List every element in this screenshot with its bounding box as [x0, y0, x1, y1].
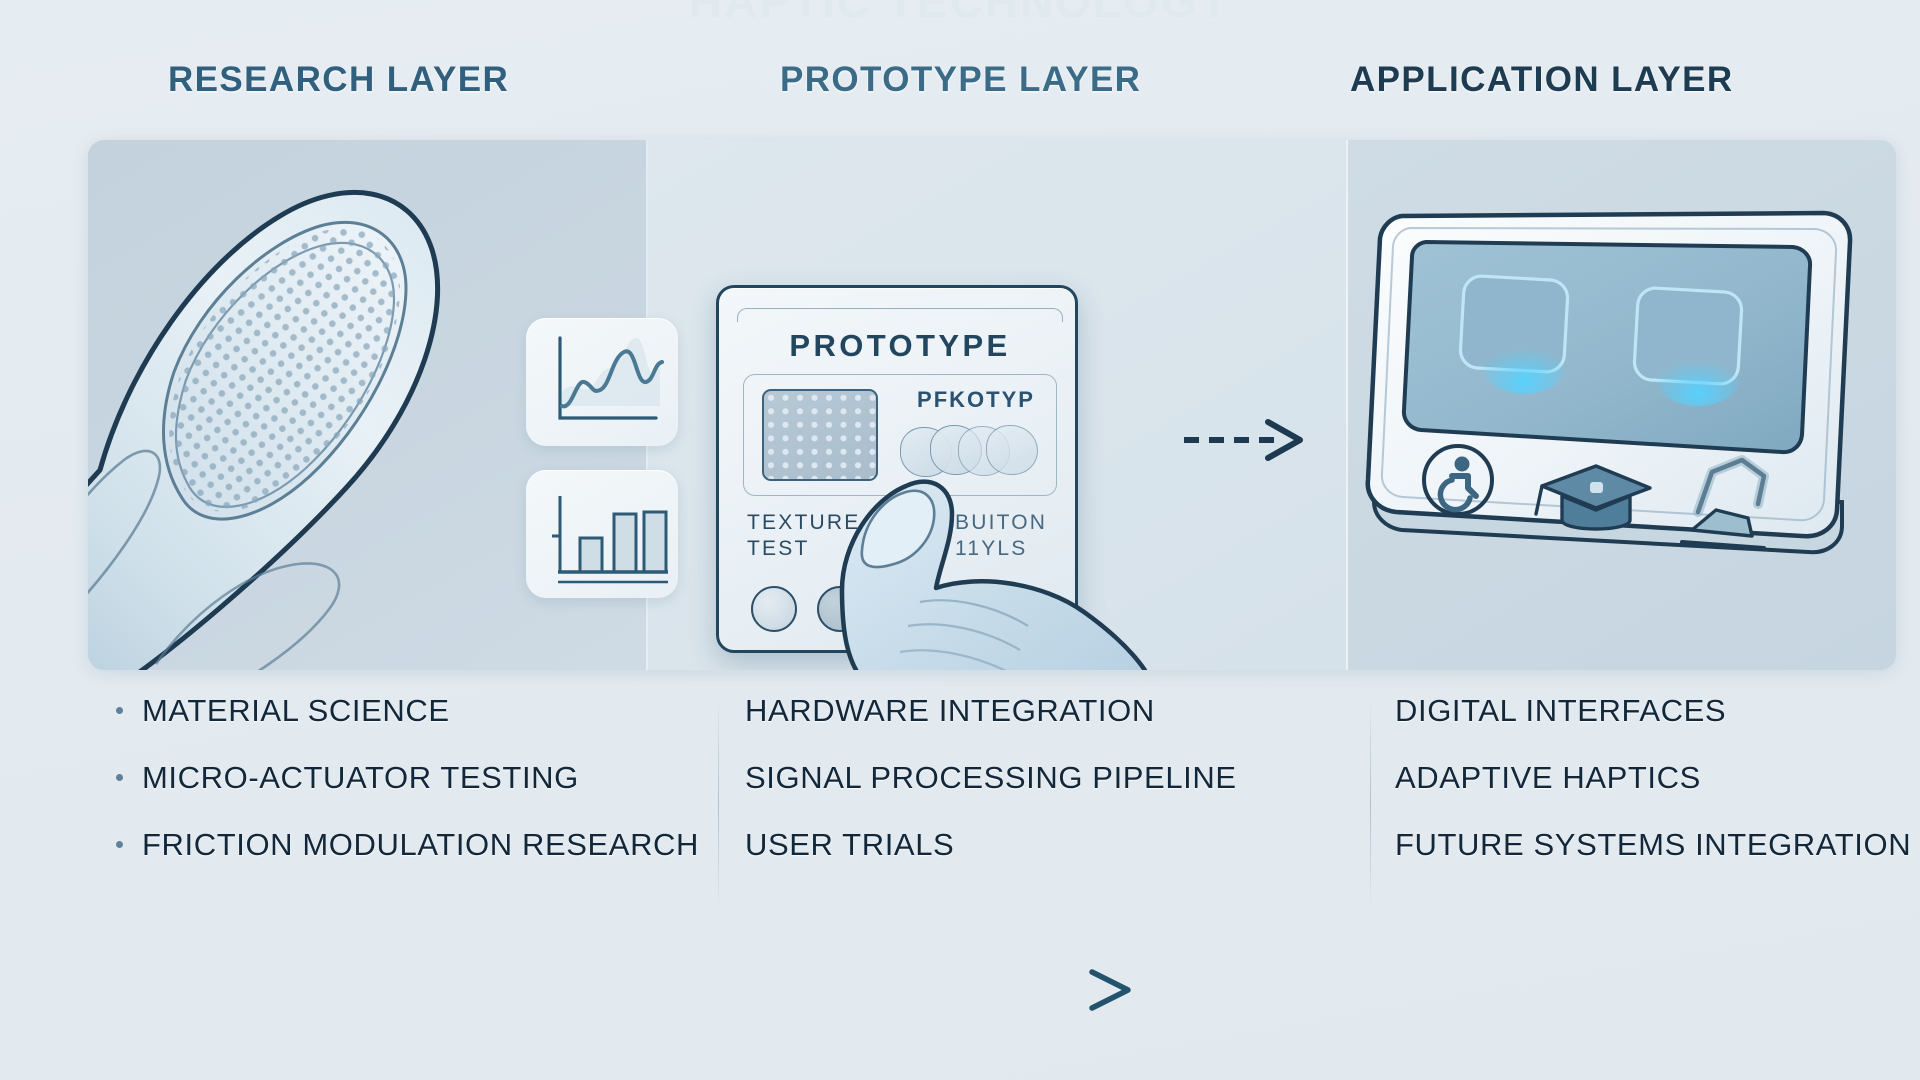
prototype-device-subtitle: PFKOTYP [906, 387, 1046, 413]
line-chart-card [526, 318, 678, 446]
list-item: ADAPTIVE HAPTICS [1395, 757, 1915, 798]
list-item: FUTURE SYSTEMS INTEGRATION [1395, 824, 1915, 865]
actuator-array [762, 389, 878, 481]
list-item: DIGITAL INTERFACES [1395, 690, 1915, 731]
list-item: SIGNAL PROCESSING PIPELINE [745, 757, 1345, 798]
fingertip-illustration [88, 140, 528, 670]
tablet-display[interactable] [1346, 180, 1866, 570]
header-research-layer: RESEARCH LAYER [168, 60, 509, 100]
layer-detail-columns: MATERIAL SCIENCE MICRO-ACTUATOR TESTING … [0, 690, 1920, 930]
bar-chart-card [526, 470, 678, 598]
column-divider-2 [1370, 696, 1371, 911]
prototype-top-rail [737, 308, 1063, 322]
list-item: FRICTION MODULATION RESEARCH [112, 824, 732, 865]
list-item: MATERIAL SCIENCE [112, 690, 732, 731]
column-research: MATERIAL SCIENCE MICRO-ACTUATOR TESTING … [112, 690, 732, 892]
layer-headers: RESEARCH LAYER PROTOTYPE LAYER APPLICATI… [0, 60, 1920, 116]
dashed-transition-arrow [1180, 416, 1310, 464]
column-application: DIGITAL INTERFACES ADAPTIVE HAPTICS FUTU… [1395, 690, 1915, 892]
maturity-progression-arrow [96, 966, 1142, 1014]
header-application-layer: APPLICATION LAYER [1350, 60, 1734, 100]
clipped-page-title: HAPTIC TECHNOLOGY [0, 0, 1920, 28]
illustration-band: PROTOTYPE PFKOTYP TEXT [88, 140, 1896, 670]
list-item: MICRO-ACTUATOR TESTING [112, 757, 732, 798]
list-item: USER TRIALS [745, 824, 1345, 865]
texture-button-1[interactable] [751, 586, 797, 632]
list-item: HARDWARE INTEGRATION [745, 690, 1345, 731]
texture-blob [986, 425, 1038, 475]
pointing-finger [828, 470, 1158, 670]
prototype-device-title: PROTOTYPE [719, 328, 1081, 364]
header-prototype-layer: PROTOTYPE LAYER [780, 60, 1141, 100]
column-prototype: HARDWARE INTEGRATION SIGNAL PROCESSING P… [745, 690, 1345, 892]
